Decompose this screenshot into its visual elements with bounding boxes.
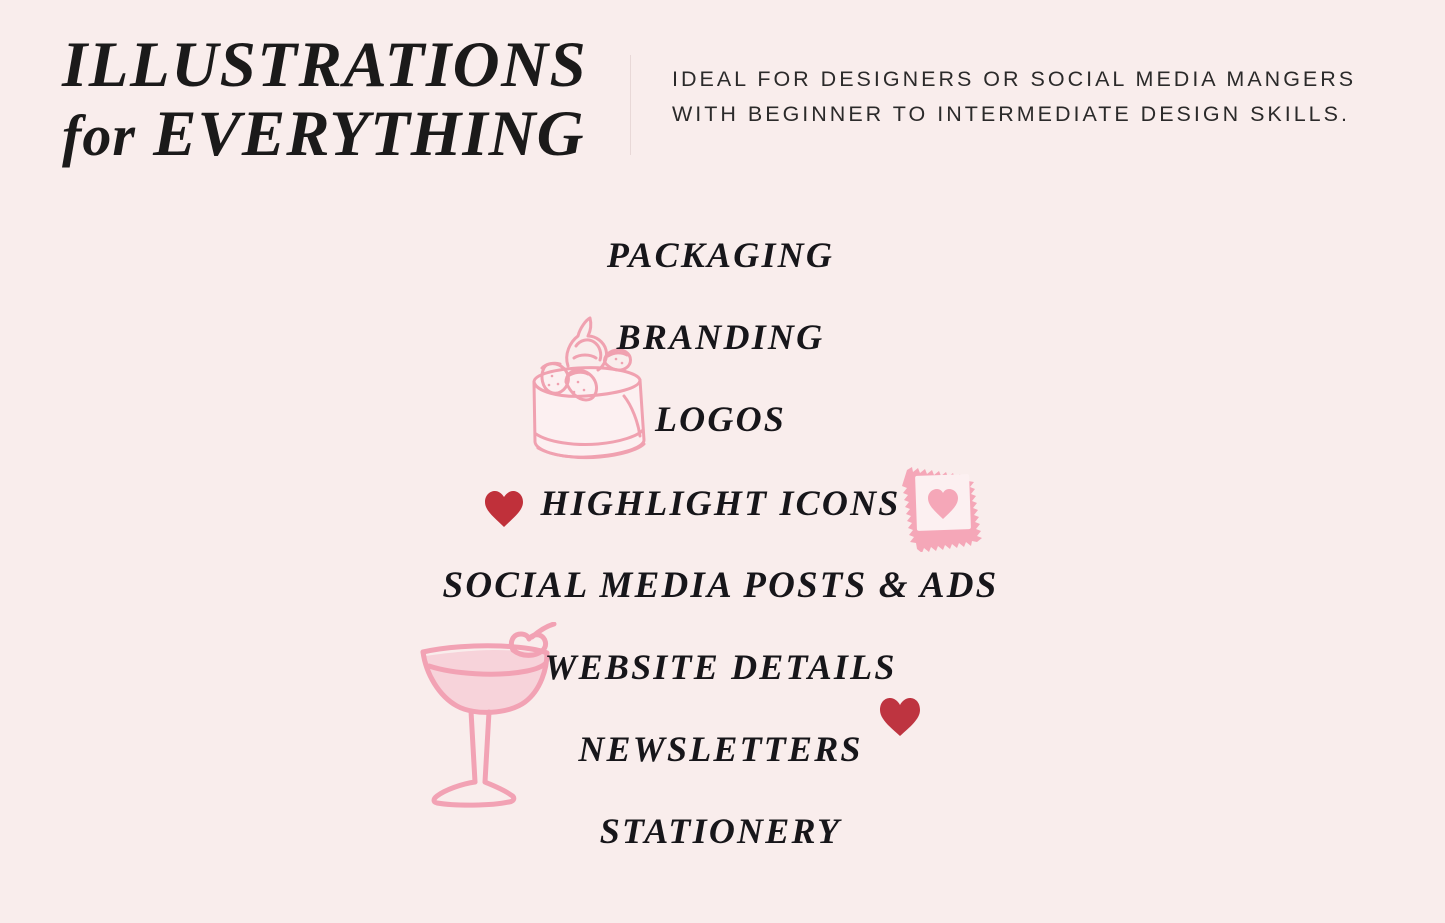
list-item[interactable]: BRANDING	[0, 316, 1443, 358]
list-item[interactable]: NEWSLETTERS	[0, 728, 1443, 770]
list-item[interactable]: STATIONERY	[0, 810, 1443, 852]
list-item[interactable]: HIGHLIGHT ICONS	[0, 482, 1443, 524]
list-item[interactable]: SOCIAL MEDIA POSTS & ADS	[0, 564, 1443, 607]
list-item[interactable]: WEBSITE DETAILS	[0, 646, 1443, 688]
poster-canvas: ILLUSTRATIONS for EVERYTHING IDEAL FOR D…	[0, 0, 1445, 923]
list-item[interactable]: PACKAGING	[0, 234, 1443, 276]
list-item[interactable]: LOGOS	[0, 398, 1443, 440]
use-case-list: PACKAGING BRANDING LOGOS HIGHLIGHT ICONS…	[0, 0, 1445, 923]
